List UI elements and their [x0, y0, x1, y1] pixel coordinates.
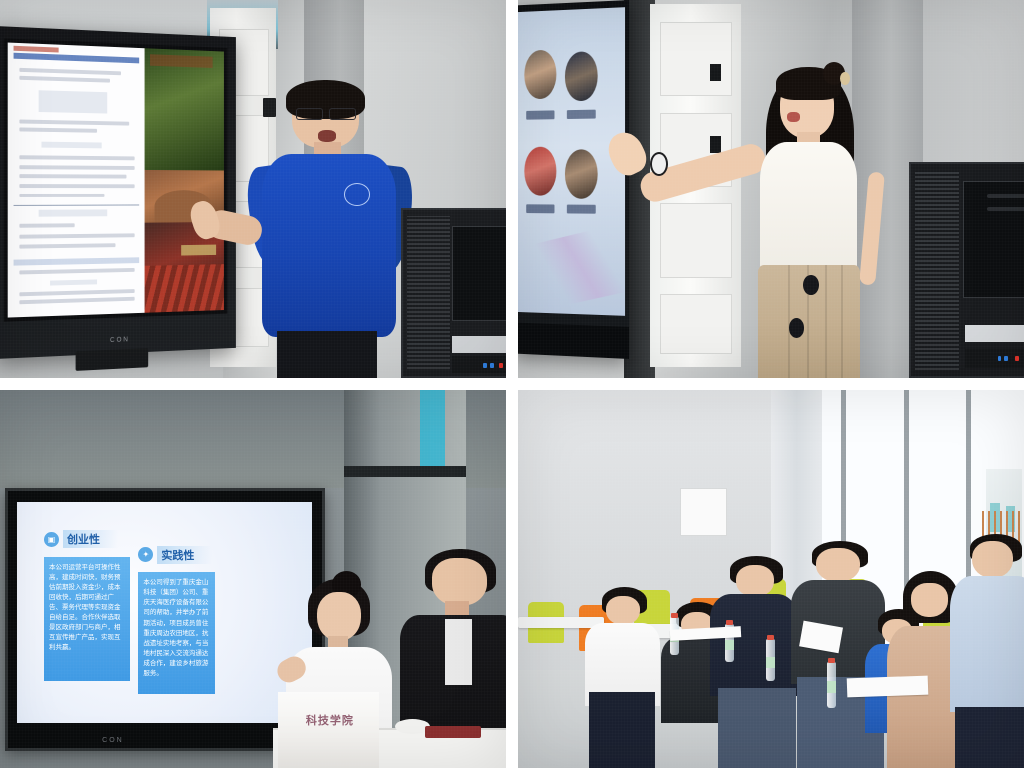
- door-hinge-bottom: [710, 136, 721, 153]
- audience-member: [584, 587, 665, 768]
- slide-heading-1-label: 创业性: [63, 530, 118, 548]
- av-equipment-rack: [401, 208, 506, 378]
- whiteboard: [680, 488, 728, 535]
- member-avatar-2: [565, 51, 598, 101]
- photo-bottom-right: [518, 390, 1024, 768]
- member-name-4: [567, 204, 596, 213]
- member-name-3: [526, 204, 554, 213]
- slide-card-1: 本公司运营平台可操作性高，建成时间快，财务预估前期投入资金少，成本回收快，后期可…: [44, 557, 130, 681]
- audience-member: [953, 534, 1024, 768]
- slide-heading-1: ▣ 创业性: [44, 530, 118, 548]
- cyan-accent-strip: [420, 390, 445, 473]
- member-avatar-4: [565, 149, 598, 198]
- photo-top-left: CON: [0, 0, 506, 378]
- presenter-male: [253, 83, 405, 378]
- team-intro-slide: [518, 7, 625, 315]
- mouse-pad: [425, 726, 481, 737]
- vertical-touch-display[interactable]: [518, 0, 629, 359]
- briefcase-icon: ▣: [44, 532, 59, 547]
- projected-slide: ▣ 创业性 本公司运营平台可操作性高，建成时间快，财务预估前期投入资金少，成本回…: [17, 502, 312, 723]
- slide-heading-2-label: 实践性: [157, 546, 212, 564]
- display-brand-logo: CON: [110, 337, 130, 345]
- photo-bottom-left: ▣ 创业性 本公司运营平台可操作性高，建成时间快，财务预估前期投入资金少，成本回…: [0, 390, 506, 768]
- member-avatar-1: [524, 50, 556, 99]
- rocket-icon: ✦: [138, 547, 153, 562]
- slide-photo-field: [145, 49, 224, 171]
- photo-collage: CON: [0, 0, 1024, 768]
- slide-document-panel: [8, 43, 145, 318]
- board-brand-logo: CON: [102, 737, 124, 744]
- door-hinge-top: [710, 64, 721, 81]
- display-screen: [8, 43, 224, 318]
- table-cloth: 科技学院: [278, 692, 379, 768]
- presenter-female: [741, 45, 883, 378]
- wall-display: CON: [0, 26, 236, 359]
- photo-top-right: [518, 0, 1024, 378]
- audience-member: [710, 556, 801, 768]
- display-base: [518, 322, 629, 359]
- av-equipment-rack: [909, 162, 1024, 378]
- member-name-2: [567, 110, 596, 120]
- glasses-icon: [296, 108, 357, 117]
- water-bottle: [766, 639, 775, 681]
- table-cloth-text: 科技学院: [294, 712, 365, 728]
- slide-heading-2: ✦ 实践性: [138, 546, 212, 564]
- member-name-1: [526, 110, 554, 120]
- slide-card-2: 本公司得到了重庆金山科技（集团）公司、重庆天海医疗设备有限公司的帮助，并举办了前…: [138, 572, 215, 694]
- score-sheet: [847, 676, 929, 698]
- member-avatar-3: [524, 147, 556, 195]
- wristwatch: [650, 152, 668, 176]
- display-bezel: [4, 38, 227, 322]
- projection-board: ▣ 创业性 本公司运营平台可操作性高，建成时间快，财务预估前期投入资金少，成本回…: [5, 488, 325, 751]
- water-bottle: [827, 662, 836, 707]
- dark-trim-band: [344, 466, 465, 477]
